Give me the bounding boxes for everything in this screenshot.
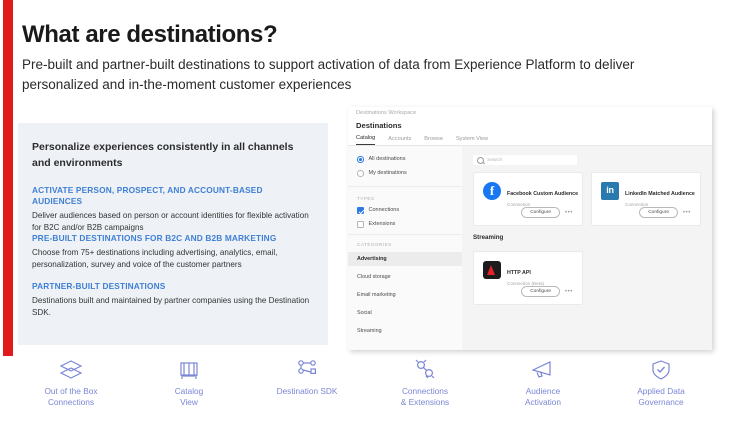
card-name: LinkedIn Matched Audience — [625, 191, 695, 197]
feature-label: Applied DataGovernance — [602, 386, 720, 408]
card-header: HTTP API Connection (Beta) — [483, 261, 544, 286]
destination-card-facebook[interactable]: Facebook Custom Audience Connection Conf… — [473, 172, 583, 226]
checkbox-extensions-label: Extensions — [369, 221, 396, 227]
feature-label: Connections& Extensions — [366, 386, 484, 408]
catalog-icon — [130, 357, 248, 383]
tab-catalog[interactable]: Catalog — [356, 135, 375, 145]
feature-label: AudienceActivation — [484, 386, 602, 408]
radio-my-destinations[interactable]: My destinations — [357, 170, 407, 177]
info-panel-title: Personalize experiences consistently in … — [32, 140, 302, 172]
checkbox-connections-label: Connections — [369, 207, 400, 213]
tab-browse[interactable]: Browse — [424, 136, 443, 145]
radio-all-destinations-label: All destinations — [369, 156, 406, 162]
feature-label: Destination SDK — [248, 386, 366, 397]
feature-out-of-the-box-connections[interactable]: Out of the BoxConnections — [12, 357, 130, 408]
search-icon — [477, 157, 484, 164]
feature-audience-activation[interactable]: AudienceActivation — [484, 357, 602, 408]
tab-accounts[interactable]: Accounts — [388, 136, 411, 145]
card-text: LinkedIn Matched Audience Connection — [625, 182, 695, 207]
linkedin-icon — [601, 182, 619, 200]
types-group-label: TYPES — [357, 196, 375, 201]
info-section-3-heading: PARTNER-BUILT DESTINATIONS — [32, 281, 312, 292]
configure-button[interactable]: Configure — [521, 207, 560, 218]
tab-bar: Catalog Accounts Browse System View — [356, 135, 488, 145]
info-section-3-body: Destinations built and maintained by par… — [32, 295, 312, 319]
destination-card-linkedin[interactable]: LinkedIn Matched Audience Connection Con… — [591, 172, 701, 226]
search-input[interactable]: Search — [473, 155, 577, 165]
info-section-2: PRE-BUILT DESTINATIONS FOR B2C AND B2B M… — [32, 233, 312, 271]
shield-check-icon — [602, 357, 720, 383]
filter-rail: All destinations My destinations TYPES C… — [348, 146, 463, 350]
card-name: Facebook Custom Audience — [507, 191, 578, 197]
feature-destination-sdk[interactable]: Destination SDK — [248, 357, 366, 397]
more-options-icon[interactable]: ••• — [565, 289, 573, 295]
slide-root: What are destinations? Pre-built and par… — [0, 0, 750, 421]
streaming-section-heading: Streaming — [473, 234, 503, 241]
category-cloud-storage[interactable]: Cloud storage — [348, 270, 462, 284]
feature-icon-row: Out of the BoxConnections CatalogView — [0, 357, 750, 421]
plug-icon — [366, 357, 484, 383]
checkbox-checked-icon — [357, 207, 364, 214]
rail-divider-2 — [348, 234, 462, 235]
checkbox-connections[interactable]: Connections — [357, 207, 399, 214]
search-placeholder: Search — [487, 158, 502, 163]
info-section-1-body: Deliver audiences based on person or acc… — [32, 210, 312, 234]
categories-group-label: CATEGORIES — [357, 242, 392, 247]
configure-button[interactable]: Configure — [521, 286, 560, 297]
facebook-icon — [483, 182, 501, 200]
rail-divider-1 — [348, 186, 462, 187]
info-section-2-heading: PRE-BUILT DESTINATIONS FOR B2C AND B2B M… — [32, 233, 312, 244]
radio-all-destinations[interactable]: All destinations — [357, 156, 406, 163]
radio-on-icon — [357, 156, 364, 163]
info-section-2-body: Choose from 75+ destinations including a… — [32, 247, 312, 271]
more-options-icon[interactable]: ••• — [565, 210, 573, 216]
workspace-title: Destinations — [356, 121, 402, 130]
category-advertising[interactable]: Advertising — [348, 252, 462, 266]
info-section-1-heading: ACTIVATE PERSON, PROSPECT, AND ACCOUNT-B… — [32, 185, 312, 207]
card-text: Facebook Custom Audience Connection — [507, 182, 578, 207]
card-name: HTTP API — [507, 270, 531, 276]
destination-card-http-api[interactable]: HTTP API Connection (Beta) Configure ••• — [473, 251, 583, 305]
destinations-workspace-mock: Destinations Workspace Destinations Cata… — [348, 107, 712, 350]
info-section-1: ACTIVATE PERSON, PROSPECT, AND ACCOUNT-B… — [32, 185, 312, 234]
page-subtitle: Pre-built and partner-built destinations… — [22, 55, 642, 94]
page-title: What are destinations? — [22, 22, 277, 48]
adobe-icon — [483, 261, 501, 279]
sdk-nodes-icon — [248, 357, 366, 383]
megaphone-icon — [484, 357, 602, 383]
category-streaming[interactable]: Streaming — [348, 324, 462, 338]
feature-catalog-view[interactable]: CatalogView — [130, 357, 248, 408]
feature-applied-data-governance[interactable]: Applied DataGovernance — [602, 357, 720, 408]
catalog-content: Search Facebook Custom Audience Connecti… — [462, 146, 712, 350]
checkbox-extensions[interactable]: Extensions — [357, 221, 395, 228]
radio-off-icon — [357, 170, 364, 177]
feature-label: CatalogView — [130, 386, 248, 408]
feature-connections-extensions[interactable]: Connections& Extensions — [366, 357, 484, 408]
red-accent-bar — [3, 0, 13, 356]
feature-label: Out of the BoxConnections — [12, 386, 130, 408]
tab-system-view[interactable]: System View — [456, 136, 488, 145]
box-icon — [12, 357, 130, 383]
info-section-3: PARTNER-BUILT DESTINATIONS Destinations … — [32, 281, 312, 319]
configure-button[interactable]: Configure — [639, 207, 678, 218]
radio-my-destinations-label: My destinations — [369, 170, 407, 176]
breadcrumb: Destinations Workspace — [356, 110, 416, 116]
category-email-marketing[interactable]: Email marketing — [348, 288, 462, 302]
more-options-icon[interactable]: ••• — [683, 210, 691, 216]
category-social[interactable]: Social — [348, 306, 462, 320]
card-header: LinkedIn Matched Audience Connection — [601, 182, 695, 207]
card-header: Facebook Custom Audience Connection — [483, 182, 578, 207]
info-panel: Personalize experiences consistently in … — [18, 123, 328, 345]
card-text: HTTP API Connection (Beta) — [507, 261, 544, 286]
checkbox-unchecked-icon — [357, 221, 364, 228]
